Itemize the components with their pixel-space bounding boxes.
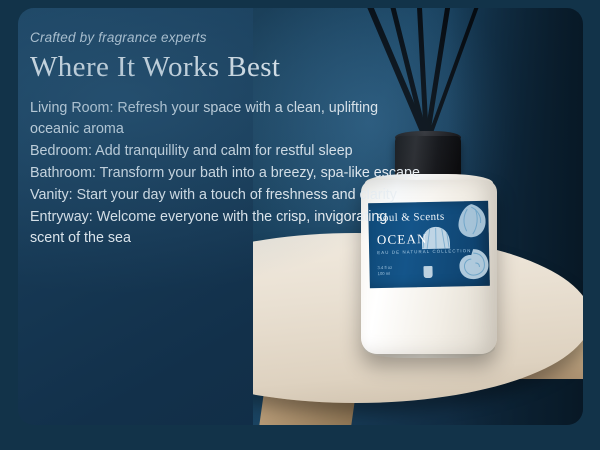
- banner-root: Soul & Scents OCEAN EAU DE NATURAL COLLE…: [0, 0, 600, 450]
- copy-block: Crafted by fragrance experts Where It Wo…: [30, 30, 420, 250]
- list-item: Bathroom: Transform your bath into a bre…: [30, 163, 420, 184]
- list-item: Entryway: Welcome everyone with the cris…: [30, 207, 420, 249]
- list-item: Vanity: Start your day with a touch of f…: [30, 185, 420, 206]
- content-panel: Soul & Scents OCEAN EAU DE NATURAL COLLE…: [18, 8, 583, 425]
- conch-shell-icon: [454, 203, 489, 240]
- page-title: Where It Works Best: [30, 51, 420, 84]
- benefits-list: Living Room: Refresh your space with a c…: [30, 98, 420, 249]
- eyebrow-text: Crafted by fragrance experts: [30, 30, 420, 45]
- list-item: Living Room: Refresh your space with a c…: [30, 98, 420, 140]
- label-emblem-icon: [423, 266, 432, 278]
- list-item: Bedroom: Add tranquillity and calm for r…: [30, 141, 420, 162]
- label-volume: 3.4 fl oz 100 ml: [377, 265, 392, 278]
